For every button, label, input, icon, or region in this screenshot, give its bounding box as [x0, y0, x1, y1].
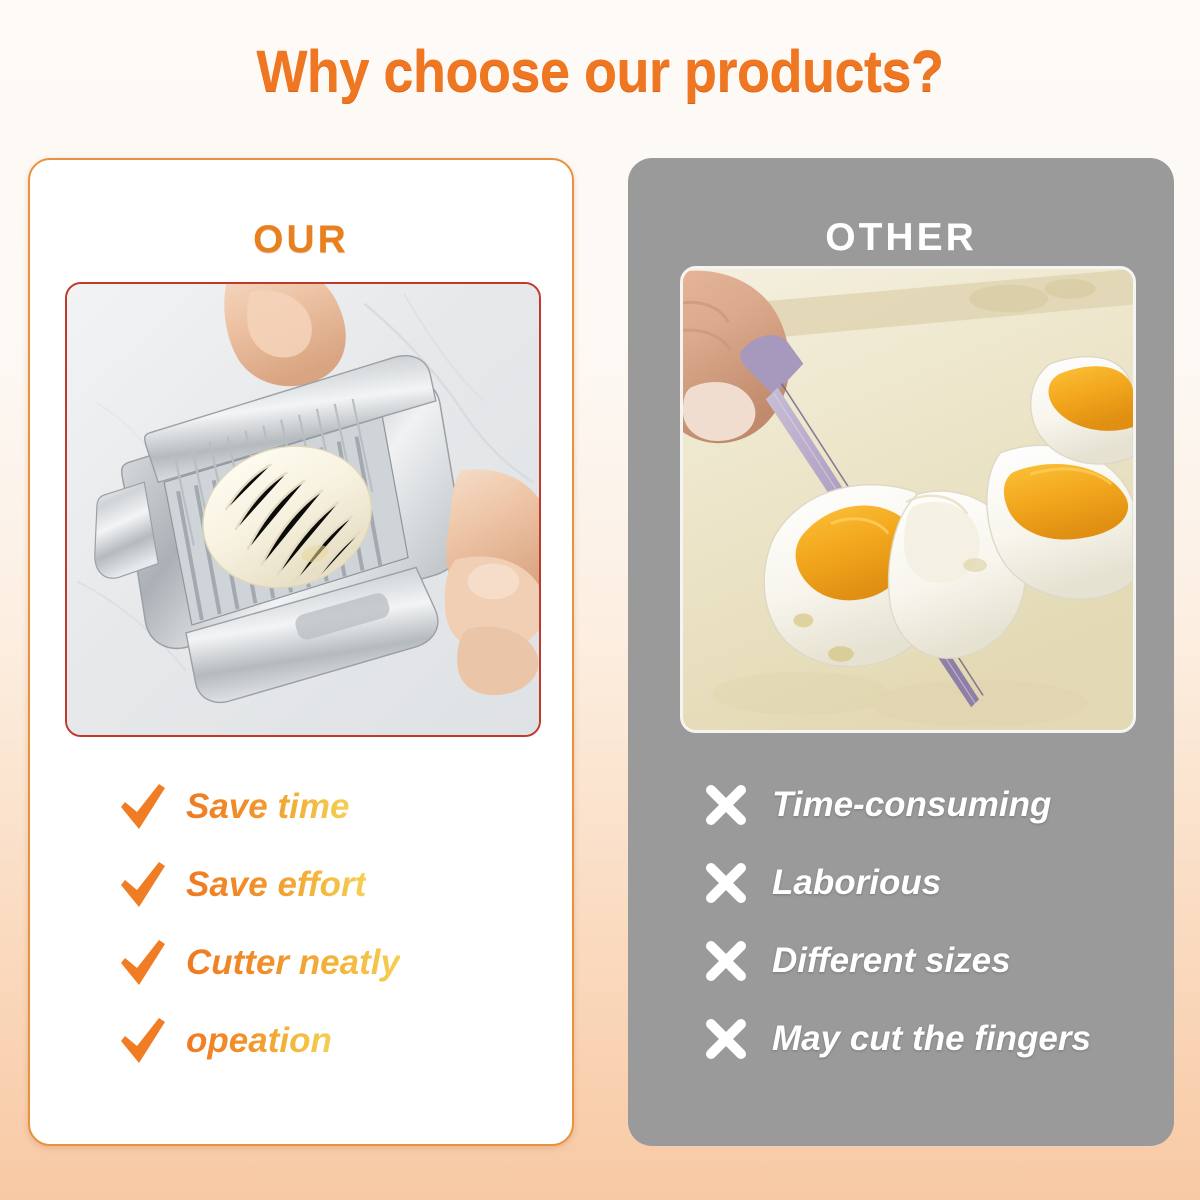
our-product-photo: [65, 282, 541, 737]
knife-cutting-egg-illustration: [683, 269, 1133, 730]
feature-row: Cutter neatly: [118, 924, 572, 1002]
cross-icon: [704, 1017, 762, 1061]
check-icon: [118, 784, 176, 830]
our-panel-card: OUR: [28, 158, 574, 1146]
egg-slicer-illustration: [67, 284, 539, 735]
page-title: Why choose our products?: [42, 38, 1158, 105]
other-panel-heading: OTHER: [628, 216, 1174, 260]
check-icon: [118, 1018, 176, 1064]
feature-label: Save effort: [186, 865, 366, 905]
feature-label: Different sizes: [772, 941, 1011, 981]
feature-row: May cut the fingers: [704, 1000, 1174, 1078]
feature-label: opeation: [186, 1021, 332, 1061]
our-feature-list: Save time Save effort Cutter neatly: [30, 768, 572, 1080]
feature-row: Time-consuming: [704, 766, 1174, 844]
cross-icon: [704, 861, 762, 905]
feature-row: Laborious: [704, 844, 1174, 922]
other-panel-card: OTHER: [628, 158, 1174, 1146]
feature-row: Different sizes: [704, 922, 1174, 1000]
cross-icon: [704, 783, 762, 827]
feature-row: Save time: [118, 768, 572, 846]
cross-icon: [704, 939, 762, 983]
check-icon: [118, 940, 176, 986]
feature-label: Cutter neatly: [186, 943, 400, 983]
check-icon: [118, 862, 176, 908]
other-product-photo: [680, 266, 1136, 733]
our-panel-heading: OUR: [30, 218, 572, 262]
other-feature-list: Time-consuming Laborious: [628, 766, 1174, 1078]
feature-label: May cut the fingers: [772, 1019, 1091, 1059]
feature-row: Save effort: [118, 846, 572, 924]
feature-row: opeation: [118, 1002, 572, 1080]
feature-label: Laborious: [772, 863, 941, 903]
feature-label: Save time: [186, 787, 349, 827]
feature-label: Time-consuming: [772, 785, 1051, 825]
